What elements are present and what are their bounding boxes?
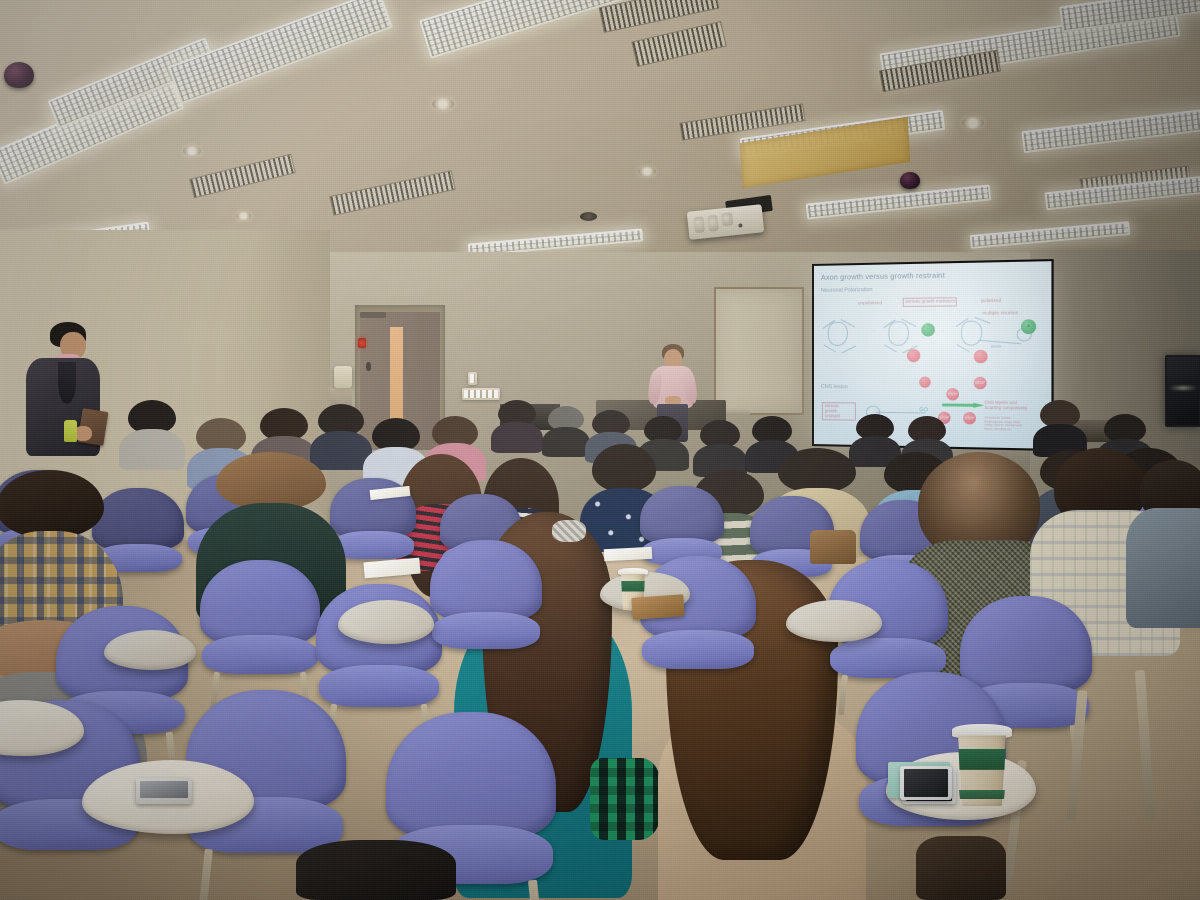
- light-switch-panel[interactable]: [462, 388, 500, 400]
- cup-band: [621, 581, 646, 592]
- coffee-cup[interactable]: [956, 724, 1008, 806]
- neuron-diagram-mid: [888, 321, 909, 346]
- ceiling-light-fixture: [48, 37, 217, 128]
- audience-member: [548, 406, 584, 454]
- bag: [916, 836, 1006, 900]
- chair-leg: [527, 879, 542, 900]
- slide-label-multiple-neurites: multiple neurites: [982, 310, 1018, 316]
- green-arrow-icon: [942, 402, 984, 408]
- whiteboard: [714, 287, 804, 415]
- standing-attendee-left: [18, 322, 108, 472]
- slide-section-top: Neuronal Polarization: [821, 287, 873, 294]
- ceiling-light-fixture: [419, 0, 651, 59]
- air-vent: [879, 50, 1001, 93]
- recessed-downlight: [638, 167, 656, 176]
- slide-title: Axon growth versus growth restraint: [821, 271, 945, 282]
- audience-member: [1040, 400, 1080, 454]
- ceiling-light-fixture: [1021, 109, 1200, 153]
- slide-label-unpolarized: unpolarized: [858, 300, 882, 305]
- slide-note-items: Chondroitin Sulfate Proteoglycan, Nogo, …: [984, 416, 1022, 432]
- tablet-arm-desk: [104, 630, 196, 670]
- ceiling-light-fixture: [0, 75, 184, 184]
- green-marker-dot: [921, 323, 935, 336]
- recessed-downlight: [432, 98, 454, 110]
- paper-sheet: [604, 547, 653, 561]
- chair-back: [640, 486, 724, 545]
- growth-restraint-text: intrinsic growth restraint: [825, 403, 840, 418]
- bag: [810, 530, 856, 564]
- ceiling-light-fixture: [1044, 176, 1200, 211]
- ceiling-light-fixture: [740, 110, 946, 158]
- stop-chip: STOP: [946, 388, 959, 400]
- chair-seat: [432, 612, 540, 649]
- arrow-icon: →: [871, 328, 876, 334]
- stop-chip: STOP: [974, 377, 987, 390]
- green-plus-dot: +: [1021, 319, 1036, 334]
- hair-clip: [552, 520, 586, 542]
- neurite-line: [841, 345, 856, 353]
- chair-back: [92, 488, 184, 551]
- slide-section-bottom: CNS lesion: [821, 384, 848, 390]
- torso: [119, 429, 184, 470]
- acoustic-panel: [740, 117, 910, 189]
- head: [216, 452, 326, 510]
- chair[interactable]: [200, 560, 320, 690]
- audience-member: [498, 400, 536, 450]
- bag: [296, 840, 456, 900]
- chair-seat: [642, 630, 753, 668]
- neuron-diagram-unpolarized: [828, 322, 848, 346]
- notebook: [631, 594, 684, 620]
- ceiling-light-fixture: [1059, 0, 1200, 32]
- dome-camera-icon: [900, 172, 920, 189]
- audience-member: [700, 420, 740, 474]
- torso: [491, 422, 543, 453]
- slide-label-polarized: polarized: [981, 298, 1001, 303]
- projector-lens-icon: [707, 215, 719, 232]
- door-closer: [360, 312, 386, 318]
- arrow-icon: →: [940, 327, 945, 333]
- air-vent: [329, 170, 455, 216]
- recessed-downlight: [183, 146, 201, 156]
- ceiling-light-fixture: [806, 184, 992, 219]
- chair[interactable]: [430, 540, 542, 664]
- air-vent: [189, 154, 296, 199]
- pink-marker-dot: [974, 350, 988, 364]
- drink-bottle: [64, 420, 77, 442]
- tablet-device[interactable]: [900, 766, 952, 800]
- cup-band-lower: [958, 790, 1007, 800]
- projector-indicator-led: [738, 223, 742, 227]
- wall-monitor[interactable]: [1165, 355, 1200, 427]
- air-vent: [1079, 165, 1190, 194]
- torso: [1126, 508, 1200, 628]
- fire-alarm-icon[interactable]: [358, 338, 366, 348]
- ceiling-light-fixture: [970, 221, 1131, 249]
- cup-band: [957, 749, 1007, 770]
- projector-lens-icon: [693, 216, 705, 233]
- projector-lens-icon: [721, 212, 733, 226]
- neuron-diagram-polarized: [961, 321, 982, 346]
- slide-label-axon: axon: [991, 344, 1002, 349]
- smartphone[interactable]: [136, 778, 192, 804]
- head: [0, 470, 104, 538]
- audience-member: [128, 400, 176, 466]
- pink-marker-dot: [907, 349, 920, 362]
- ceiling-light-fixture: [880, 7, 1181, 84]
- attendee-blazer-lapel: [58, 362, 76, 404]
- light-switch-panel[interactable]: [468, 372, 477, 385]
- pink-marker-dot: [919, 377, 930, 388]
- wall-telephone[interactable]: [334, 366, 352, 388]
- air-vent: [599, 0, 720, 33]
- ceiling-speaker-icon: [580, 212, 597, 221]
- audience-member: [1126, 460, 1200, 630]
- air-vent: [679, 103, 805, 140]
- door-handle[interactable]: [366, 362, 371, 371]
- note-title-text: CNS Myelin and Scarring components: [984, 400, 1027, 411]
- tablet-arm-desk: [786, 600, 882, 642]
- recessed-downlight: [962, 117, 984, 129]
- recessed-downlight: [236, 212, 251, 220]
- head: [592, 444, 656, 492]
- chair-back: [386, 712, 556, 841]
- chair-back: [430, 540, 542, 622]
- projector-mount: [725, 195, 773, 217]
- note-items-text: Chondroitin Sulfate Proteoglycan, Nogo, …: [984, 415, 1022, 431]
- chair-back: [200, 560, 320, 646]
- slide-note-title: CNS Myelin and Scarring components: [984, 400, 1027, 411]
- stop-chip: STOP: [963, 412, 976, 425]
- go-label: GO: [919, 407, 928, 413]
- ceiling-light-fixture: [168, 0, 393, 104]
- lecture-room-photo: Axon growth versus growth restraint Neur…: [0, 0, 1200, 900]
- chair-seat: [202, 635, 317, 674]
- dome-camera-icon: [4, 62, 34, 88]
- tablet-arm-desk: [338, 600, 434, 644]
- slide-box-growth-restraint: intrinsic growth restraint: [822, 402, 856, 421]
- air-vent: [631, 21, 726, 67]
- head: [778, 448, 856, 493]
- ceiling-projector: [687, 204, 765, 240]
- slide-box-growth-mediators: intrinsic growth mediators: [903, 297, 957, 307]
